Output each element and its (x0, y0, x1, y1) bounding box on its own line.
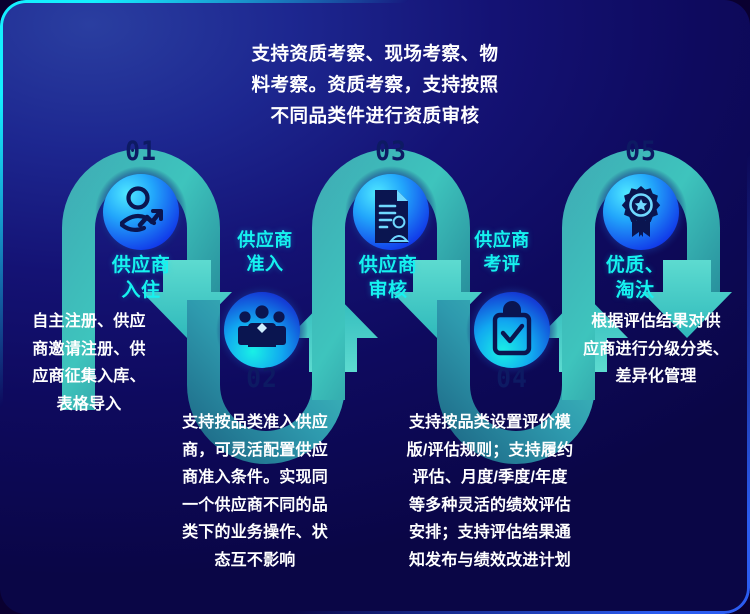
step-description-01: 自主注册、供应 商邀请注册、供 应商征集入库、 表格导入 (14, 308, 164, 418)
step-title-05: 优质、 淘汰 (580, 253, 690, 303)
desc-line: 商邀请注册、供 (14, 336, 164, 364)
desc-line: 版/评估规则；支持履约 (390, 437, 590, 465)
arrow-label-1: 供应商 准入 (213, 228, 317, 276)
arrow-label-line: 准入 (213, 252, 317, 276)
desc-line: 支持按品类准入供应 (165, 409, 345, 437)
desc-line: 自主注册、供应 (14, 308, 164, 336)
step-description-05: 根据评估结果对供 应商进行分级分类、 差异化管理 (570, 308, 742, 391)
desc-line: 商准入条件。实现同 (165, 464, 345, 492)
desc-line: 支持按品类设置评价模 (390, 409, 590, 437)
desc-line: 一个供应商不同的品 (165, 492, 345, 520)
desc-line: 应商征集入库、 (14, 363, 164, 391)
step-circle-01 (95, 166, 187, 258)
header-note-line: 料考察。资质考察，支持按照 (205, 69, 545, 100)
desc-line: 安排；支持评估结果通 (390, 519, 590, 547)
step-description-04: 支持按品类设置评价模 版/评估规则；支持履约 评估、月度/季度/年度 等多种灵活… (390, 409, 590, 574)
step-description-02: 支持按品类准入供应 商，可灵活配置供应 商准入条件。实现同 一个供应商不同的品 … (165, 409, 345, 574)
document-review-icon (375, 190, 408, 243)
step-number-04: 04 (484, 363, 539, 394)
desc-line: 差异化管理 (570, 363, 742, 391)
step-number-01: 01 (113, 136, 168, 167)
desc-line: 知发布与绩效改进计划 (390, 547, 590, 575)
step-title-line: 入住 (88, 278, 194, 303)
desc-line: 等多种灵活的绩效评估 (390, 492, 590, 520)
desc-line: 商，可灵活配置供应 (165, 437, 345, 465)
step-title-01: 供应商 入住 (88, 253, 194, 303)
step-number-03: 03 (363, 136, 418, 167)
team-group-icon (238, 305, 286, 347)
step-title-line: 审核 (333, 278, 443, 303)
arrow-label-line: 供应商 (213, 228, 317, 252)
step-number-05: 05 (613, 136, 668, 167)
arrow-label-line: 考评 (450, 252, 554, 276)
step-title-line: 供应商 (333, 253, 443, 278)
desc-line: 根据评估结果对供 (570, 308, 742, 336)
arrow-label-2: 供应商 考评 (450, 228, 554, 276)
desc-line: 应商进行分级分类、 (570, 336, 742, 364)
step-title-line: 淘汰 (580, 278, 690, 303)
desc-line: 类下的业务操作、状 (165, 519, 345, 547)
desc-line: 表格导入 (14, 391, 164, 419)
desc-line: 态互不影响 (165, 547, 345, 575)
infographic-canvas: 支持资质考察、现场考察、物 料考察。资质考察，支持按照 不同品类件进行资质审核 … (0, 0, 750, 614)
header-note-line: 支持资质考察、现场考察、物 (205, 38, 545, 69)
step-title-03: 供应商 审核 (333, 253, 443, 303)
arrow-label-line: 供应商 (450, 228, 554, 252)
step-number-02: 02 (234, 363, 289, 394)
desc-line: 评估、月度/季度/年度 (390, 464, 590, 492)
header-note-line: 不同品类件进行资质审核 (205, 100, 545, 131)
header-note: 支持资质考察、现场考察、物 料考察。资质考察，支持按照 不同品类件进行资质审核 (205, 38, 545, 131)
step-title-line: 优质、 (580, 253, 690, 278)
step-title-line: 供应商 (88, 253, 194, 278)
